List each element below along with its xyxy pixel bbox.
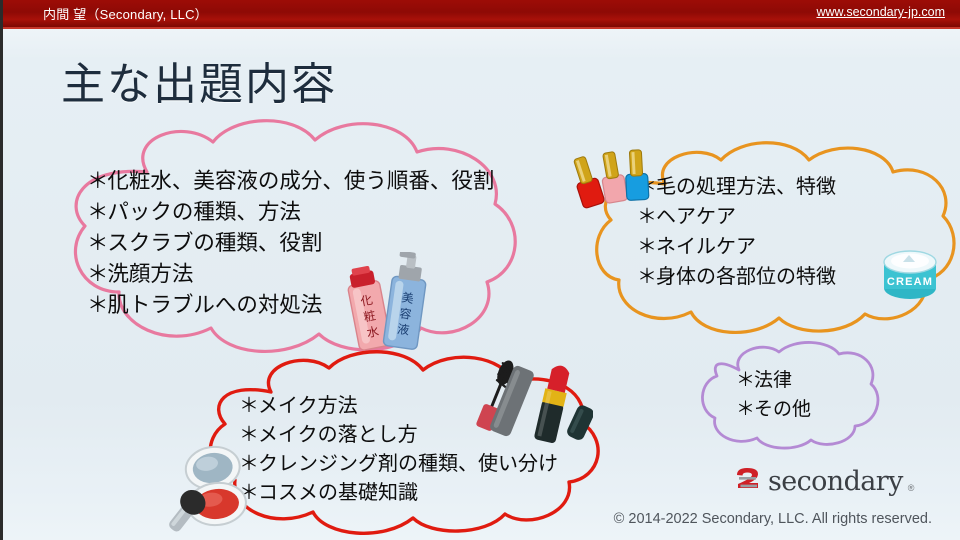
bullet-glyph: ＊	[87, 290, 107, 321]
slide-header-bar: 内間 望（Secondary, LLC） www.secondary-jp.co…	[3, 0, 960, 29]
svg-text:容: 容	[399, 306, 413, 322]
list-item: ＊ネイルケア	[637, 232, 836, 262]
cloud-misc-list: ＊法律 ＊その他	[736, 366, 811, 424]
list-item: ＊身体の各部位の特徴	[637, 262, 836, 292]
bullet-glyph: ＊	[87, 197, 107, 228]
bullet-glyph: ＊	[87, 166, 107, 197]
list-item: ＊パックの種類、方法	[87, 197, 494, 228]
cream-jar-label: CREAM	[887, 276, 933, 288]
bullet-glyph: ＊	[736, 395, 754, 424]
cream-jar-icon: CREAM	[875, 238, 945, 306]
list-item-label: 毛の処理方法、特徴	[656, 176, 836, 198]
bullet-glyph: ＊	[736, 366, 754, 395]
list-item-label: パックの種類、方法	[107, 200, 301, 224]
bullet-glyph: ＊	[637, 262, 656, 292]
list-item-label: 化粧水、美容液の成分、使う順番、役割	[107, 169, 494, 193]
bullet-glyph: ＊	[87, 259, 107, 290]
skincare-bottles-icon: 化 粧 水 美 容 液	[336, 252, 440, 360]
list-item: ＊コスメの基礎知識	[239, 479, 558, 508]
list-item: ＊その他	[736, 395, 811, 424]
bullet-glyph: ＊	[239, 392, 258, 421]
svg-text:美: 美	[401, 290, 415, 306]
list-item-label: 身体の各部位の特徴	[656, 266, 836, 288]
list-item: ＊化粧水、美容液の成分、使う順番、役割	[87, 166, 494, 197]
cloud-skincare: ＊化粧水、美容液の成分、使う順番、役割 ＊パックの種類、方法 ＊スクラブの種類、…	[55, 128, 525, 358]
list-item: ＊毛の処理方法、特徴	[637, 172, 836, 202]
compact-and-brush-icon	[165, 442, 269, 536]
presenter-name: 内間 望（Secondary, LLC）	[43, 4, 208, 23]
bullet-glyph: ＊	[637, 232, 656, 262]
page-title: 主な出題内容	[61, 48, 337, 112]
company-url-link[interactable]: www.secondary-jp.com	[816, 5, 945, 19]
secondary-logo: secondary ®	[733, 466, 914, 496]
list-item-label: その他	[754, 399, 811, 420]
list-item-label: 法律	[754, 370, 792, 391]
list-item: ＊法律	[736, 366, 811, 395]
makeup-items-icon	[465, 356, 593, 460]
slide-canvas: 内間 望（Secondary, LLC） www.secondary-jp.co…	[0, 0, 960, 540]
list-item-label: コスメの基礎知識	[258, 482, 418, 504]
nail-polish-icon	[570, 140, 658, 216]
secondary-logo-wordmark: secondary	[768, 468, 903, 495]
list-item-label: スクラブの種類、役割	[107, 231, 322, 255]
bullet-glyph: ＊	[87, 228, 107, 259]
svg-text:液: 液	[396, 322, 410, 338]
list-item-label: ヘアケア	[656, 206, 736, 228]
list-item-label: 洗顔方法	[107, 262, 193, 286]
list-item-label: メイクの落とし方	[258, 424, 418, 446]
list-item-label: ネイルケア	[656, 236, 756, 258]
cloud-bodycare-list: ＊毛の処理方法、特徴 ＊ヘアケア ＊ネイルケア ＊身体の各部位の特徴	[637, 172, 836, 292]
list-item-label: 肌トラブルへの対処法	[107, 293, 322, 317]
registered-mark: ®	[908, 483, 915, 496]
list-item-label: メイク方法	[258, 395, 358, 417]
secondary-logo-mark-icon	[733, 466, 763, 496]
copyright-notice: © 2014-2022 Secondary, LLC. All rights r…	[614, 511, 932, 527]
list-item: ＊ヘアケア	[637, 202, 836, 232]
cloud-misc: ＊法律 ＊その他	[703, 348, 885, 444]
